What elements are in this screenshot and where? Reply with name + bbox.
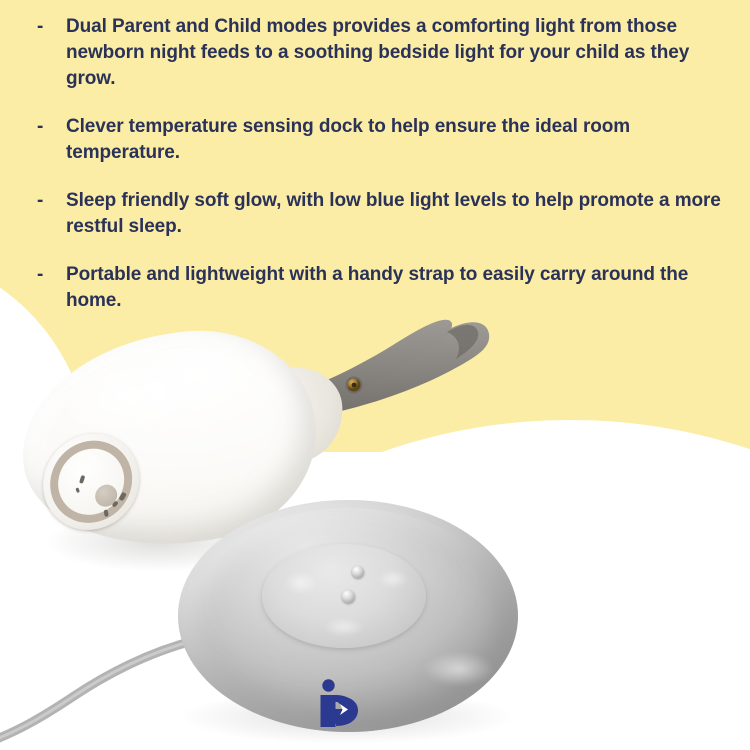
dock-contact-pin: [342, 590, 355, 603]
list-item: - Clever temperature sensing dock to hel…: [26, 114, 724, 166]
feature-text: Dual Parent and Child modes provides a c…: [66, 14, 724, 92]
dock-gloss: [284, 572, 318, 594]
bullet-dash: -: [26, 114, 66, 140]
product-feature-panel: - Dual Parent and Child modes provides a…: [0, 0, 750, 750]
list-item: - Portable and lightweight with a handy …: [26, 262, 724, 314]
list-item: - Sleep friendly soft glow, with low blu…: [26, 188, 724, 240]
bullet-dash: -: [26, 188, 66, 214]
feature-text: Sleep friendly soft glow, with low blue …: [66, 188, 724, 240]
feature-text: Clever temperature sensing dock to help …: [66, 114, 724, 166]
dock-contact-pin: [352, 566, 364, 578]
bullet-dash: -: [26, 262, 66, 288]
cable-path: [0, 640, 196, 740]
dock-gloss: [378, 570, 408, 588]
dock-gloss: [424, 652, 494, 686]
feature-list: - Dual Parent and Child modes provides a…: [0, 0, 750, 336]
bullet-dash: -: [26, 14, 66, 40]
charging-dock: [178, 500, 518, 732]
brand-logo-icon: [314, 678, 368, 728]
feature-text: Portable and lightweight with a handy st…: [66, 262, 724, 314]
list-item: - Dual Parent and Child modes provides a…: [26, 14, 724, 92]
dock-gloss: [324, 618, 364, 636]
